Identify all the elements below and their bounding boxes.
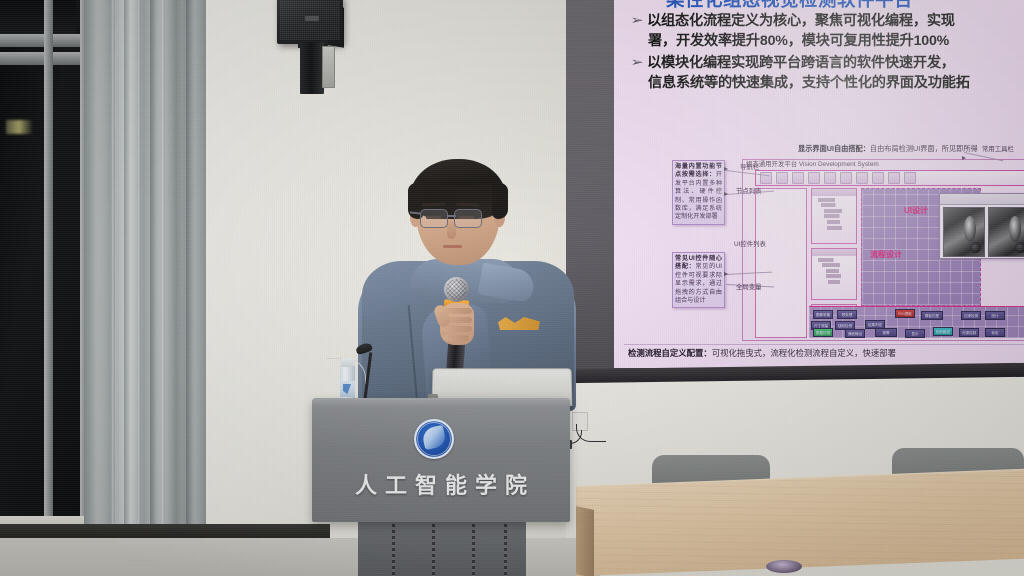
- podium-vent: [392, 524, 395, 576]
- part-hub: [1015, 242, 1024, 253]
- lecture-hall-photo: 柔性化组态视觉检测软件平台 ➢ 以组态化流程定义为核心，聚焦可视化编程，实现 署…: [0, 0, 1024, 576]
- label-ui-control-list: UI控件列表: [734, 239, 766, 248]
- toolbar-debug-icon: [840, 172, 852, 184]
- toolbar-publish-icon: [904, 172, 916, 184]
- flow-node: 报警: [875, 328, 897, 337]
- finger: [442, 326, 472, 332]
- toolbar-help-icon: [888, 172, 900, 184]
- hair-side-right: [492, 183, 508, 219]
- wall-plate: [322, 46, 335, 88]
- inspection-preview-panel: [939, 193, 1024, 259]
- slide-bullet-item: ➢ 以模块化编程实现跨平台跨语言的软件快速开发， 信息系统等的快速集成，支持个性…: [632, 54, 1024, 93]
- toolbar-run-icon: [808, 172, 820, 184]
- flow-node: 预处理: [837, 310, 857, 319]
- canvas-label-ui-design: UI设计: [904, 205, 928, 216]
- caption-top-rest: 自由布局检测UI界面，所见即所得: [870, 144, 978, 153]
- callout-node-library: 海量内置功能节点按需选择：开发平台内置多种算法、硬件控制、常用操作函数库，满足系…: [672, 160, 725, 225]
- flow-node: 光源控制: [959, 328, 979, 337]
- mock-node-list-panel: [811, 188, 857, 244]
- leader-arrow-icon: [724, 272, 728, 276]
- flow-node: 数据记录: [813, 328, 833, 337]
- flow-node: 统计: [985, 311, 1005, 320]
- projection-screen: 柔性化组态视觉检测软件平台 ➢ 以组态化流程定义为核心，聚焦可视化编程，实现 署…: [566, 0, 1024, 386]
- leader-arrow-icon: [962, 156, 966, 160]
- panel-header: [812, 189, 856, 196]
- flow-node: 边缘检测: [961, 311, 981, 320]
- microphone-head: [444, 277, 469, 302]
- mock-titlebar: 组态通用开发平台 Vision Development System: [743, 160, 1024, 169]
- podium-vent: [472, 524, 475, 576]
- label-node-list: 节点列表: [736, 186, 762, 195]
- label-navbar: 导航栏: [740, 162, 759, 171]
- mock-toolbar: [755, 170, 1024, 186]
- curtain-fold: [112, 0, 115, 576]
- slide-title: 柔性化组态视觉检测软件平台: [666, 0, 913, 12]
- flow-node: 显示: [905, 329, 925, 338]
- canvas-label-flow-design: 流程设计: [870, 249, 902, 260]
- flow-node: 相机触发: [933, 327, 953, 336]
- callout-ui-controls: 常见UI控件随心搭配：常见的UI控件可视要求际显示需求，通过拖拽的方式自由组合与…: [672, 252, 725, 308]
- panel-header: [812, 249, 856, 256]
- table-leg: [576, 506, 594, 576]
- curtain-fold: [150, 0, 157, 576]
- curtain-fold: [162, 0, 165, 576]
- curtain-fold: [186, 0, 193, 576]
- software-screenshot: 组态通用开发平台 Vision Development System: [742, 159, 1024, 341]
- leader-arrow-icon: [724, 167, 728, 171]
- speaker-mount-bracket: [300, 42, 324, 94]
- part-contour: [1009, 216, 1021, 242]
- mock-navigation-bar: [755, 188, 807, 338]
- lectern-institution-name: 人工智能学院: [312, 468, 570, 500]
- window-frame-vertical: [44, 0, 53, 532]
- nose: [447, 219, 456, 239]
- toolbar-open-icon: [776, 172, 788, 184]
- leader-arrow-icon: [724, 192, 728, 196]
- bullet-arrow-icon: ➢: [630, 54, 643, 71]
- flow-node: 图像采集: [813, 310, 833, 319]
- table-woodgrain: [576, 471, 1024, 576]
- toolbar-build-icon: [856, 172, 868, 184]
- eyeglasses-right-lens: [454, 209, 482, 228]
- table-cable-grommet: [766, 560, 802, 573]
- flow-node: 通信输出: [845, 329, 865, 338]
- finger: [443, 335, 469, 341]
- podium-column: [358, 520, 526, 576]
- part-contour: [964, 216, 976, 242]
- bullet-line-1: 以组态化流程定义为核心，聚焦可视化编程，实现: [647, 12, 955, 31]
- bullet-arrow-icon: ➢: [630, 12, 643, 29]
- preview-panel-header: [940, 194, 1024, 205]
- caption-top-bold: 显示界面UI自由搭配：: [798, 144, 870, 153]
- eyeglasses-bridge: [448, 215, 456, 217]
- bullet-line-2: 署，开发效率提升80%，模块可复用性提升100%: [648, 32, 1024, 51]
- flow-node: ROI提取: [895, 309, 915, 318]
- slide-bullet-list: ➢ 以组态化流程定义为核心，聚焦可视化编程，实现 署，开发效率提升80%，模块可…: [632, 12, 1024, 93]
- inspection-image-right: [988, 207, 1024, 257]
- flow-node: 标定: [985, 328, 1005, 337]
- toolbar-save-icon: [792, 172, 804, 184]
- bottle-cap: [341, 358, 354, 367]
- footer-rest: 可视化拖曳式，流程化检测流程自定义，快速部署: [712, 348, 896, 358]
- curtain-fold: [138, 0, 141, 576]
- inspection-image-left: [943, 207, 985, 257]
- slide-bullet-item: ➢ 以组态化流程定义为核心，聚焦可视化编程，实现 署，开发效率提升80%，模块可…: [632, 12, 1024, 51]
- wall-mounted-loudspeaker: [277, 0, 343, 44]
- bullet-line-1: 以模块化编程实现跨平台跨语言的软件快速开发，: [647, 54, 955, 73]
- footer-divider: [624, 344, 1024, 345]
- footer-bold: 检测流程自定义配置：: [628, 348, 712, 358]
- lectern-top-edge: [312, 398, 570, 407]
- mock-flow-design-canvas: 图像采集 预处理 ROI提取 模板匹配 边缘检测 尺寸测量 缺陷检测 结果判定 …: [809, 306, 1024, 338]
- podium-vent: [432, 524, 435, 576]
- window-reflection: [6, 120, 32, 134]
- label-global-variables: 全局变量: [736, 282, 762, 291]
- presentation-slide: 柔性化组态视觉检测软件平台 ➢ 以组态化流程定义为核心，聚焦可视化编程，实现 署…: [614, 0, 1024, 368]
- label-toolbar: 常用工具栏: [982, 144, 1014, 153]
- callout-body: 开发平台内置多种算法、硬件控制、常用操作函数库，满足系统定制化开发部署: [675, 171, 722, 220]
- slide-caption-top: 显示界面UI自由搭配：自由布局检测UI界面，所见即所得: [798, 144, 978, 154]
- podium-vent: [504, 524, 507, 576]
- conference-table: [576, 471, 1024, 576]
- lectern: [312, 398, 570, 522]
- mock-ui-control-list-panel: [811, 248, 857, 300]
- slide-footer: 检测流程自定义配置：可视化拖曳式，流程化检测流程自定义，快速部署: [628, 347, 896, 359]
- toolbar-settings-icon: [872, 172, 884, 184]
- part-hub: [970, 242, 981, 253]
- eyeglasses-left-lens: [420, 209, 448, 228]
- university-emblem: [414, 419, 454, 459]
- speaker-badge: [305, 16, 319, 21]
- flow-node: 模板匹配: [921, 311, 943, 320]
- curtain-fold: [124, 0, 131, 576]
- mouth: [443, 245, 462, 248]
- window-upper-pane: [0, 0, 76, 36]
- microphone-mesh: [446, 279, 467, 300]
- toolbar-stop-icon: [824, 172, 836, 184]
- bullet-line-2: 信息系统等的快速集成，支持个性化的界面及功能拓: [648, 74, 1024, 93]
